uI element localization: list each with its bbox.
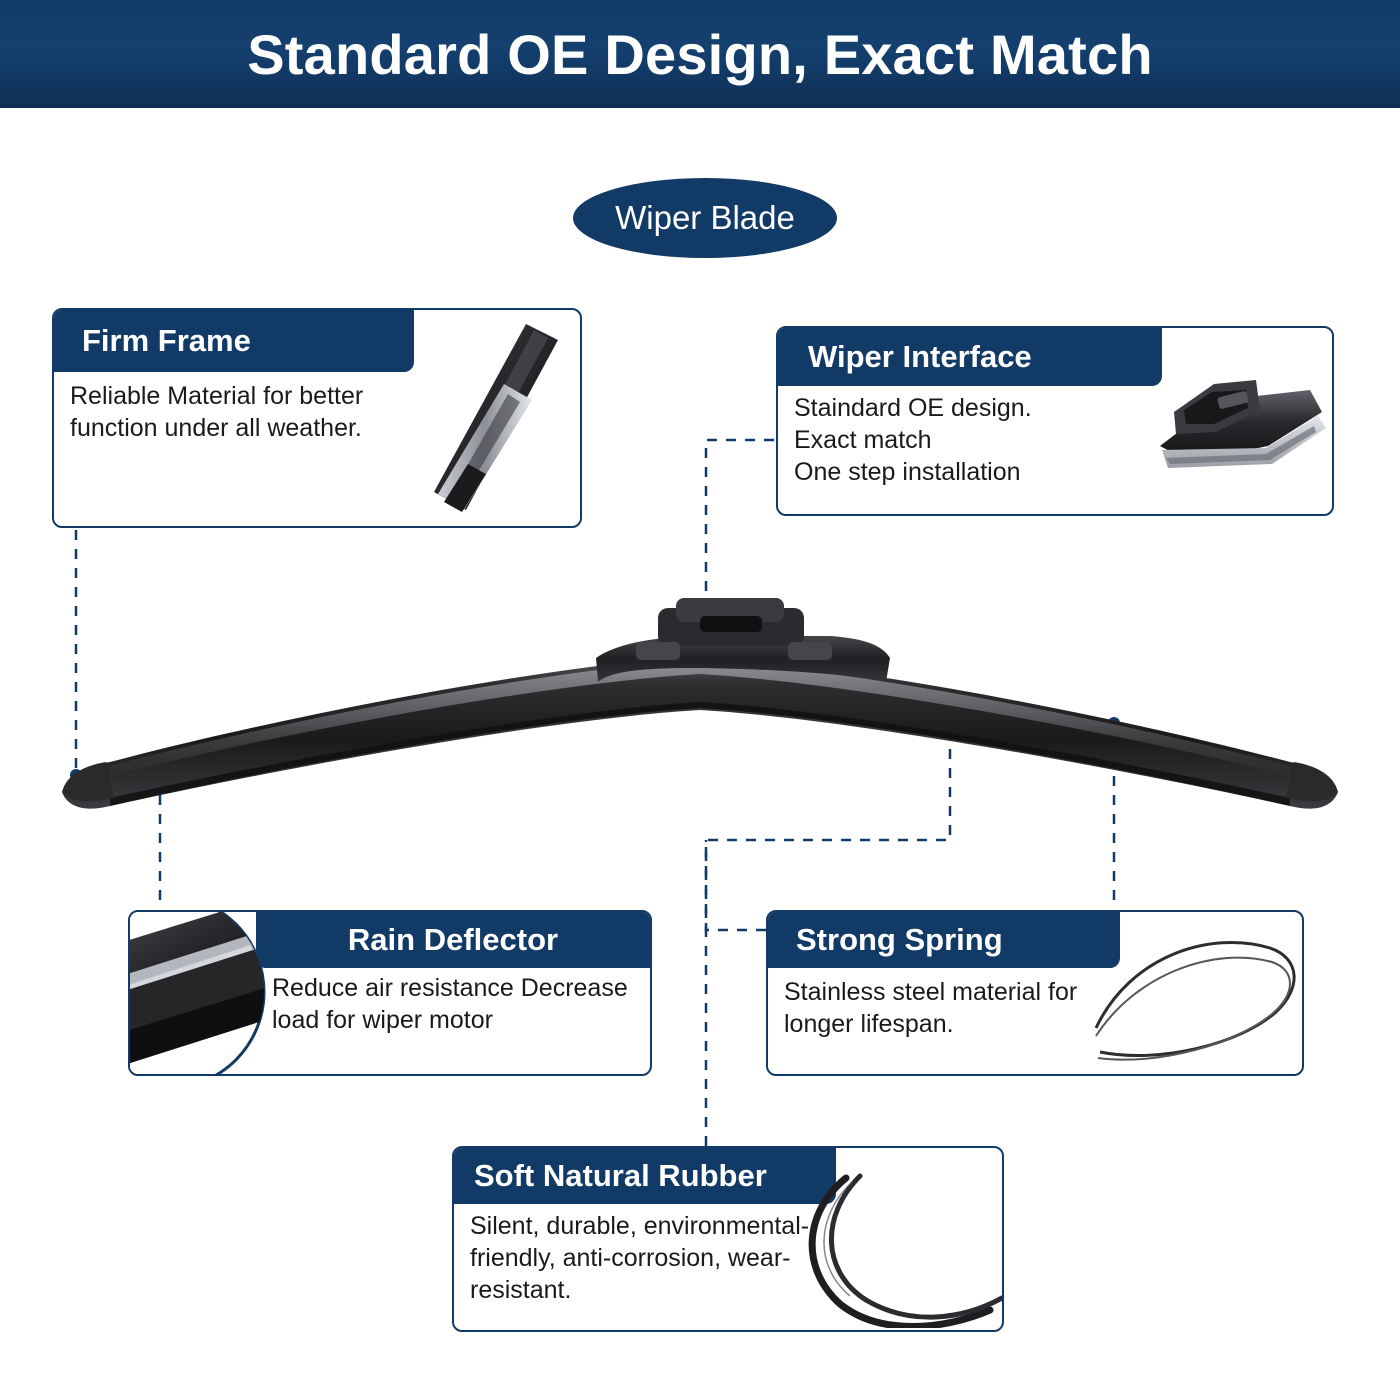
feature-text-firm-frame: Reliable Material for better function un… bbox=[70, 380, 400, 444]
feature-card-rain-deflector: Rain Deflector Reduce air resistance Dec… bbox=[128, 910, 652, 1076]
product-name-badge: Wiper Blade bbox=[573, 178, 837, 258]
feature-title-wiper-interface: Wiper Interface bbox=[808, 339, 1032, 375]
product-name-label: Wiper Blade bbox=[615, 199, 795, 237]
feature-title-soft-rubber: Soft Natural Rubber bbox=[474, 1158, 767, 1194]
feature-card-wiper-interface: Wiper Interface Staindard OE design. Exa… bbox=[776, 326, 1334, 516]
page-title: Standard OE Design, Exact Match bbox=[247, 22, 1153, 87]
feature-text-wiper-interface: Staindard OE design. Exact match One ste… bbox=[794, 392, 1148, 488]
feature-text-soft-rubber: Silent, durable, environmental-friendly,… bbox=[470, 1210, 832, 1306]
strong-spring-closeup-photo bbox=[1090, 912, 1304, 1076]
header-banner: Standard OE Design, Exact Match bbox=[0, 0, 1400, 108]
feature-text-rain-deflector: Reduce air resistance Decrease load for … bbox=[272, 972, 636, 1036]
firm-frame-closeup-photo bbox=[408, 314, 576, 524]
feature-title-rain-deflector: Rain Deflector bbox=[348, 922, 558, 958]
feature-body-rain-deflector: Reduce air resistance Decrease load for … bbox=[256, 968, 650, 1046]
feature-title-bar-wiper-interface: Wiper Interface bbox=[778, 328, 1162, 386]
feature-title-bar-strong-spring: Strong Spring bbox=[768, 912, 1120, 968]
feature-title-strong-spring: Strong Spring bbox=[796, 922, 1003, 958]
feature-card-strong-spring: Strong Spring Stainless steel material f… bbox=[766, 910, 1304, 1076]
wiper-blade-product-image bbox=[40, 560, 1360, 840]
feature-body-strong-spring: Stainless steel material for longer life… bbox=[768, 968, 1128, 1050]
feature-body-soft-rubber: Silent, durable, environmental-friendly,… bbox=[454, 1204, 846, 1316]
soft-rubber-strip-photo bbox=[794, 1172, 1004, 1328]
feature-body-firm-frame: Reliable Material for better function un… bbox=[54, 372, 414, 454]
feature-card-soft-rubber: Soft Natural Rubber Silent, durable, env… bbox=[452, 1146, 1004, 1332]
feature-title-firm-frame: Firm Frame bbox=[82, 323, 251, 359]
feature-title-bar-soft-rubber: Soft Natural Rubber bbox=[454, 1148, 836, 1204]
feature-body-wiper-interface: Staindard OE design. Exact match One ste… bbox=[778, 386, 1162, 498]
rain-deflector-closeup-photo bbox=[128, 910, 268, 1076]
feature-title-bar-rain-deflector: Rain Deflector bbox=[256, 912, 650, 968]
feature-text-strong-spring: Stainless steel material for longer life… bbox=[784, 976, 1114, 1040]
wiper-interface-closeup-photo bbox=[1150, 354, 1330, 499]
feature-card-firm-frame: Firm Frame Reliable Material for better … bbox=[52, 308, 582, 528]
feature-title-bar-firm-frame: Firm Frame bbox=[54, 310, 414, 372]
